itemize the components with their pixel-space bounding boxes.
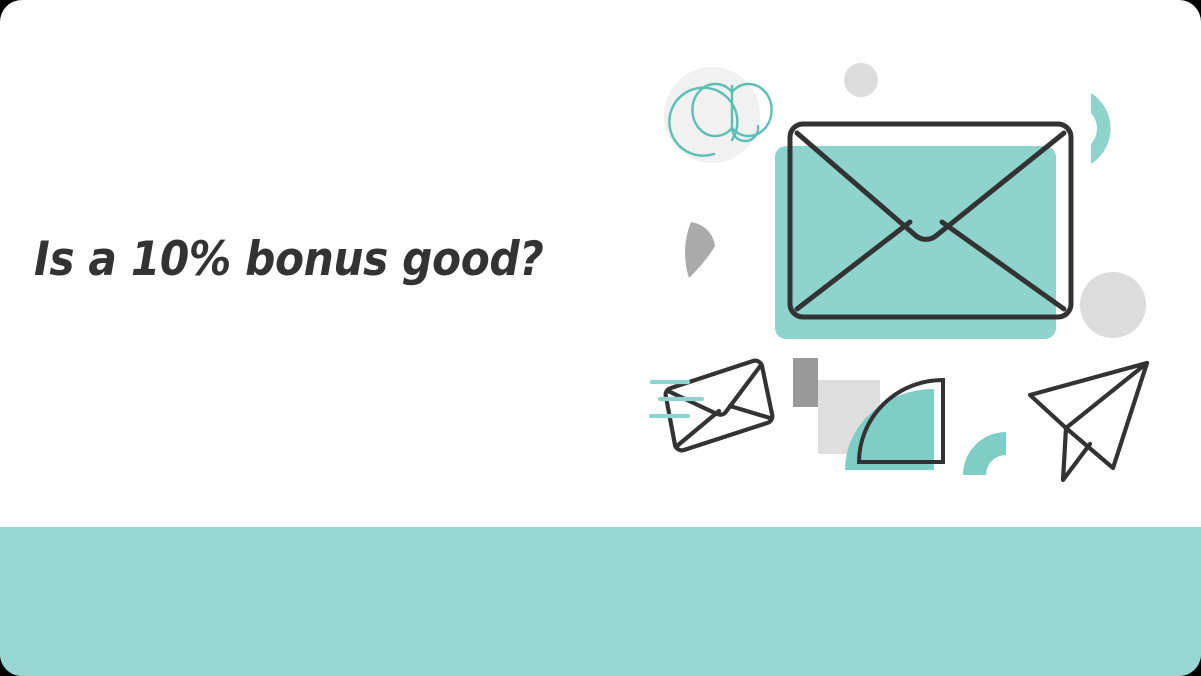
content-card: Is a 10% bonus good? bbox=[0, 0, 1201, 676]
flying-envelope-icon bbox=[666, 361, 773, 451]
page-title: Is a 10% bonus good? bbox=[34, 214, 634, 304]
teal-crescent-arc bbox=[1091, 93, 1111, 164]
page-stage: Is a 10% bonus good? bbox=[0, 0, 1201, 676]
gray-dot-large bbox=[1080, 272, 1146, 338]
gray-leaf-shape bbox=[685, 222, 715, 278]
gray-rectangle-dark bbox=[793, 358, 818, 407]
teal-elbow-arc bbox=[963, 432, 1006, 475]
gray-dot-small bbox=[844, 63, 878, 97]
email-illustration bbox=[620, 20, 1190, 510]
paper-plane-icon bbox=[1030, 363, 1147, 480]
at-symbol-shadow-circle bbox=[664, 67, 760, 163]
footer-bar: ZIPPIA THE CAREER EXPERT bbox=[0, 527, 1201, 676]
